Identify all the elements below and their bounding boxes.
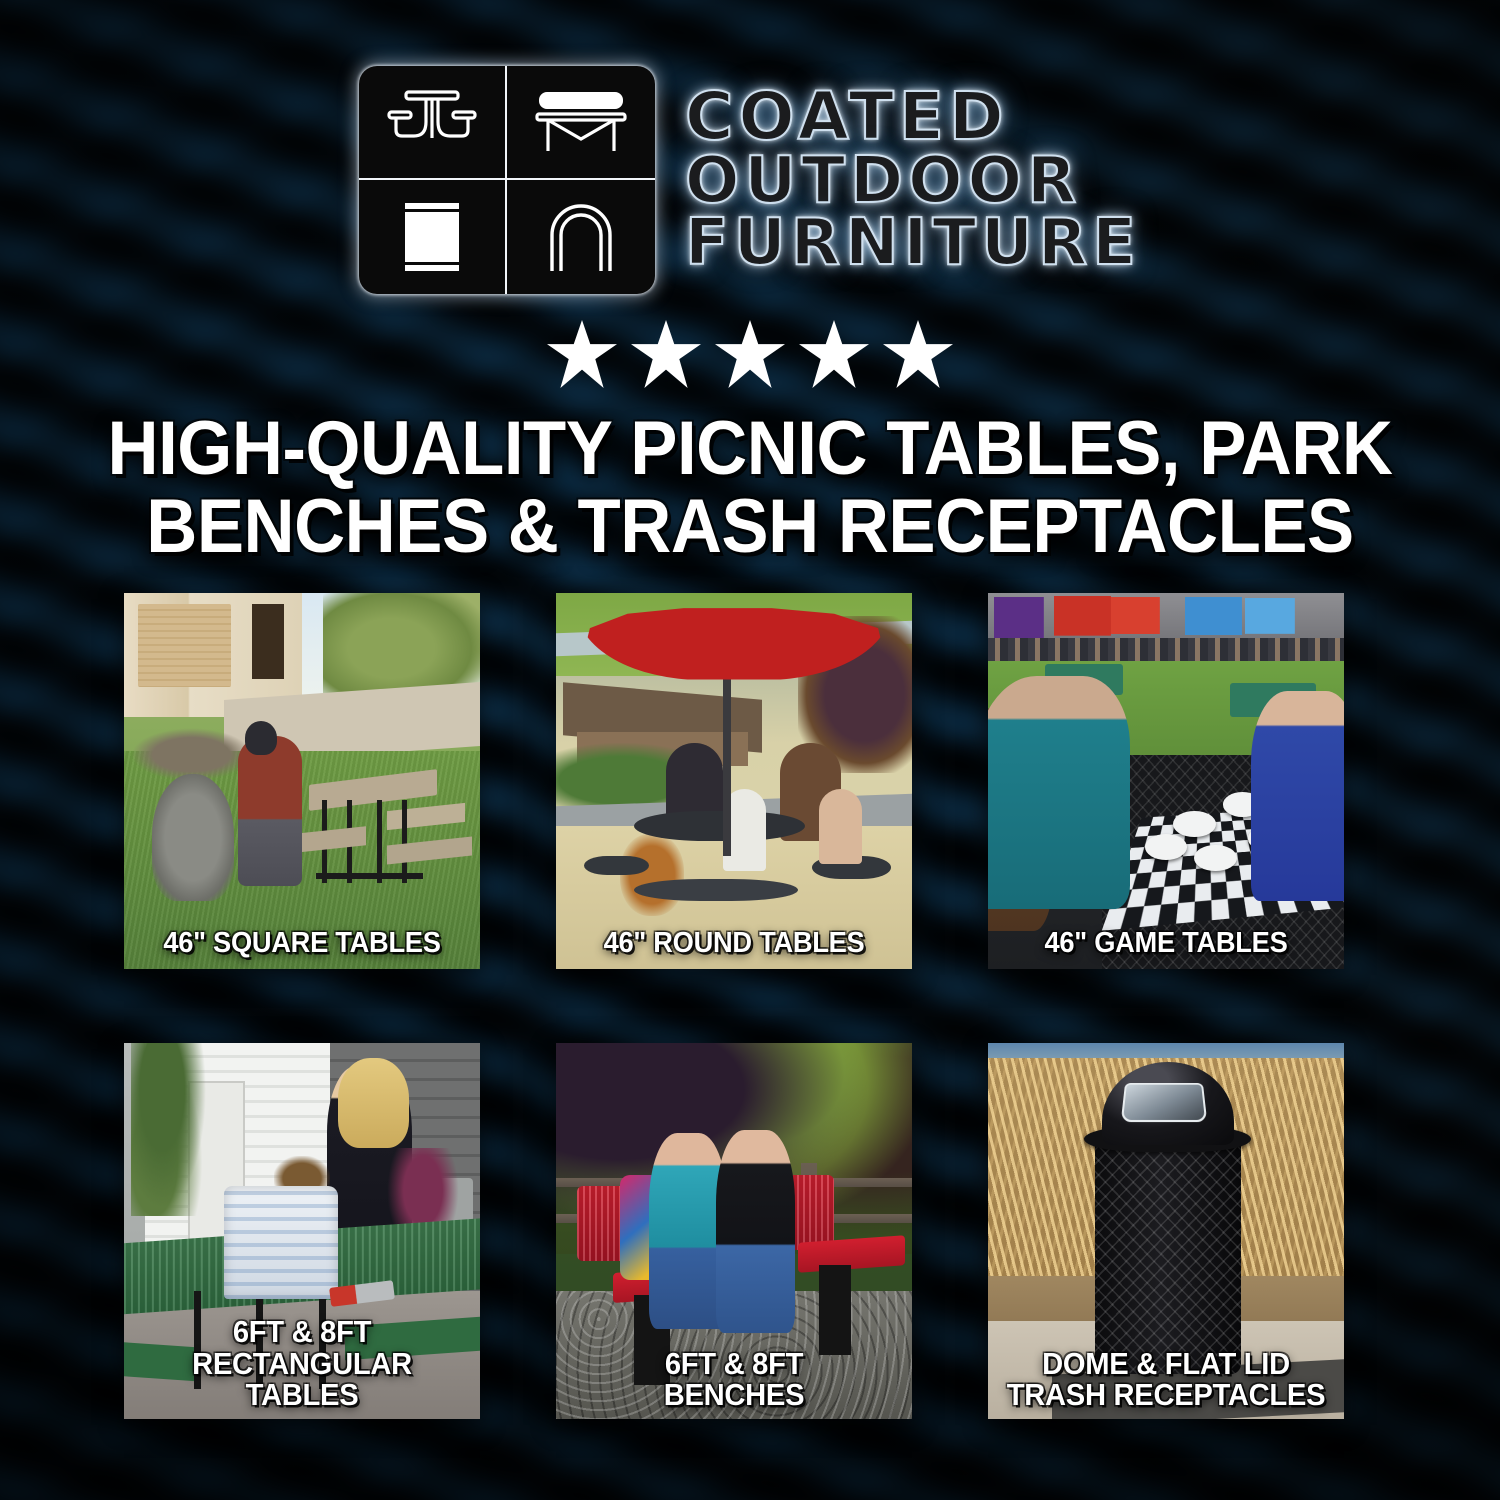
star-icon	[799, 320, 869, 388]
product-card-benches[interactable]: 6FT & 8FT BENCHES	[556, 1043, 912, 1419]
brand-name-line2: OUTDOOR	[685, 150, 1081, 213]
brand-wordmark: COATED OUTDOOR FURNITURE	[685, 85, 1141, 275]
product-caption-line1: 46" ROUND TABLES	[572, 929, 895, 959]
picnic-table-icon	[359, 66, 507, 180]
product-photo-game-tables	[988, 593, 1344, 969]
product-card-game-tables[interactable]: 46" GAME TABLES	[988, 593, 1344, 969]
bench-icon	[507, 66, 655, 180]
star-rating	[0, 320, 1500, 388]
product-caption-line1: 46" GAME TABLES	[1004, 929, 1327, 959]
product-caption-line2: RECTANGULAR TABLES	[140, 1348, 463, 1411]
product-caption: 46" ROUND TABLES	[567, 929, 902, 959]
product-caption-line2: TRASH RECEPTACLES	[1004, 1379, 1327, 1411]
product-caption: 6FT & 8FT RECTANGULAR TABLES	[135, 1316, 470, 1411]
product-grid: 46" SQUARE TABLES 46" ROUND TABLES	[124, 593, 1376, 1419]
star-icon	[631, 320, 701, 388]
product-caption: 46" GAME TABLES	[999, 929, 1334, 959]
headline-line2: BENCHES & TRASH RECEPTACLES	[53, 488, 1448, 566]
bike-rack-arch-icon	[507, 180, 655, 294]
brand-name-line1: COATED	[685, 85, 1009, 150]
brand-logo-mark	[359, 66, 655, 294]
product-caption-line1: 46" SQUARE TABLES	[140, 929, 463, 959]
headline-line1: HIGH-QUALITY PICNIC TABLES, PARK	[53, 410, 1448, 488]
product-caption-line1: DOME & FLAT LID	[1004, 1348, 1327, 1380]
product-card-round-tables[interactable]: 46" ROUND TABLES	[556, 593, 912, 969]
product-card-square-tables[interactable]: 46" SQUARE TABLES	[124, 593, 480, 969]
brand-name-line3: FURNITURE	[685, 212, 1141, 275]
product-caption-line1: 6FT & 8FT	[140, 1316, 463, 1348]
product-card-trash-receptacles[interactable]: DOME & FLAT LID TRASH RECEPTACLES	[988, 1043, 1344, 1419]
star-icon	[883, 320, 953, 388]
brand-header: COATED OUTDOOR FURNITURE	[0, 0, 1500, 294]
product-card-rectangular-tables[interactable]: 6FT & 8FT RECTANGULAR TABLES	[124, 1043, 480, 1419]
banner-page: COATED OUTDOOR FURNITURE HIGH-QUALITY PI…	[0, 0, 1500, 1500]
product-caption-line1: 6FT & 8FT	[572, 1348, 895, 1380]
product-caption: 46" SQUARE TABLES	[135, 929, 470, 959]
product-photo-round-tables	[556, 593, 912, 969]
product-caption: 6FT & 8FT BENCHES	[567, 1348, 902, 1411]
product-photo-square-tables	[124, 593, 480, 969]
headline: HIGH-QUALITY PICNIC TABLES, PARK BENCHES…	[53, 410, 1448, 565]
trash-receptacle-icon	[359, 180, 507, 294]
star-icon	[715, 320, 785, 388]
product-caption: DOME & FLAT LID TRASH RECEPTACLES	[999, 1348, 1334, 1411]
star-icon	[547, 320, 617, 388]
product-caption-line2: BENCHES	[572, 1379, 895, 1411]
